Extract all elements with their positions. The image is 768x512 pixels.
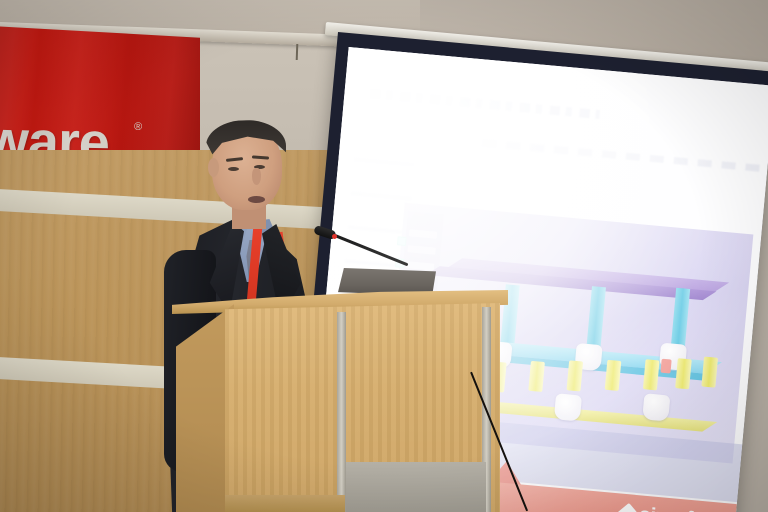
cad-cylinder (605, 360, 622, 391)
cad-cylinder (643, 359, 660, 390)
cad-cylinder (566, 360, 583, 391)
cad-column (586, 286, 606, 349)
presenter-ear (208, 158, 219, 177)
cad-base-cap (642, 393, 670, 421)
cad-highlight-marker (660, 359, 671, 374)
simufact-logo-text: simufact (638, 503, 722, 512)
cad-base-cap (554, 393, 582, 421)
tree-checkbox[interactable] (397, 236, 407, 246)
podium-base-lower (225, 495, 345, 512)
presenter-mouth (248, 196, 265, 203)
simufact-logo: simufact (618, 502, 722, 512)
podium-metal-trim (337, 312, 346, 512)
cad-cylinder (701, 357, 718, 388)
microphone-led-icon (332, 234, 337, 239)
presenter-nose (252, 168, 261, 185)
diamond-icon (616, 502, 640, 512)
tree-item (406, 261, 435, 271)
podium-base-panel (346, 462, 486, 512)
presenter-eye (228, 167, 239, 171)
tree-item (409, 229, 438, 239)
tree-item (407, 245, 436, 255)
cad-cylinder (528, 361, 545, 392)
slide-subtitle-text (482, 140, 768, 177)
cad-cylinder (675, 358, 692, 389)
banner-registered-mark: ® (134, 121, 142, 133)
slide-title-text (370, 89, 600, 119)
presentation-photo: ftware ® (0, 0, 768, 512)
